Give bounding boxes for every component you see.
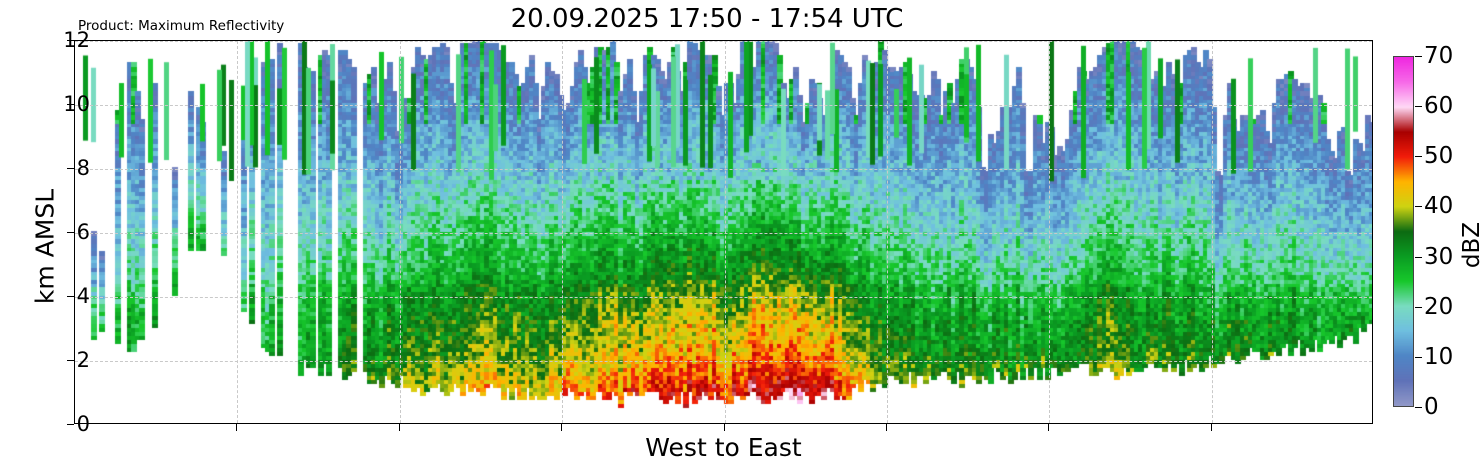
y-axis-tick-mark — [67, 360, 74, 361]
y-axis-tick-label: 8 — [77, 156, 90, 180]
x-axis-tick-mark — [236, 424, 237, 431]
reflectivity-heatmap — [75, 41, 1373, 424]
x-axis-label: West to East — [74, 433, 1373, 462]
colorbar-tick-mark — [1415, 156, 1422, 157]
y-axis-label: km AMSL — [31, 117, 60, 377]
y-axis-tick-label: 6 — [77, 220, 90, 244]
colorbar-tick-label: 60 — [1424, 93, 1453, 119]
colorbar-tick-label: 40 — [1424, 193, 1453, 219]
x-axis-tick-mark — [399, 424, 400, 431]
x-axis-tick-mark — [886, 424, 887, 431]
colorbar-tick-mark — [1415, 257, 1422, 258]
x-axis-tick-mark — [1048, 424, 1049, 431]
colorbar-tick-mark — [1415, 407, 1422, 408]
x-axis-tick-mark — [561, 424, 562, 431]
y-axis-tick-mark — [67, 40, 74, 41]
x-axis-tick-mark — [724, 424, 725, 431]
colorbar-tick-mark — [1415, 357, 1422, 358]
colorbar-unit-label: dBZ — [1459, 165, 1482, 325]
y-axis-tick-mark — [67, 232, 74, 233]
colorbar-gradient — [1393, 56, 1414, 407]
colorbar-tick-mark — [1415, 307, 1422, 308]
colorbar-tick-mark — [1415, 206, 1422, 207]
colorbar-tick-label: 30 — [1424, 244, 1453, 270]
y-axis-tick-label: 2 — [77, 348, 90, 372]
y-axis-tick-mark — [67, 104, 74, 105]
colorbar — [1393, 56, 1414, 407]
product-label: Product: Maximum Reflectivity — [78, 18, 284, 34]
radar-cross-section-figure: 20.09.2025 17:50 - 17:54 UTC Product: Ma… — [0, 0, 1482, 470]
colorbar-tick-mark — [1415, 56, 1422, 57]
y-axis-tick-label: 4 — [77, 284, 90, 308]
colorbar-tick-label: 0 — [1424, 394, 1439, 420]
colorbar-tick-label: 20 — [1424, 294, 1453, 320]
colorbar-tick-label: 50 — [1424, 143, 1453, 169]
plot-area — [74, 40, 1373, 424]
colorbar-tick-label: 10 — [1424, 344, 1453, 370]
y-axis-tick-mark — [67, 424, 74, 425]
colorbar-tick-label: 70 — [1424, 43, 1453, 69]
y-axis-tick-mark — [67, 296, 74, 297]
y-axis-tick-mark — [67, 168, 74, 169]
x-axis-tick-mark — [1211, 424, 1212, 431]
colorbar-tick-mark — [1415, 106, 1422, 107]
